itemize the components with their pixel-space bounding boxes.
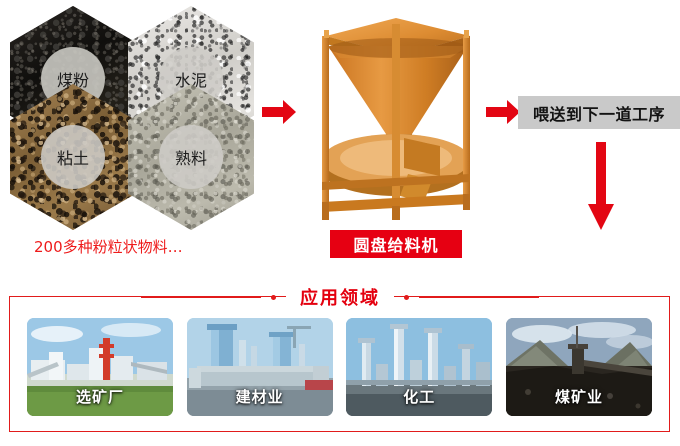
red-right-arrow-icon	[486, 100, 520, 124]
application-card-label: 化工	[346, 386, 492, 407]
application-card-coal-mining[interactable]: 煤矿业	[506, 318, 652, 416]
material-label-badge: 粘土	[41, 125, 105, 189]
material-label-badge: 熟料	[159, 125, 223, 189]
materials-caption: 200多种粉粒状物料…	[34, 236, 183, 257]
machine-name-banner: 圆盘给料机	[330, 230, 462, 258]
title-dot-right	[404, 295, 409, 300]
application-title: 应用领域	[286, 284, 394, 310]
application-card-label: 煤矿业	[506, 386, 652, 407]
next-process-box: 喂送到下一道工序	[518, 96, 680, 129]
title-dot-left	[271, 295, 276, 300]
red-right-arrow-icon	[262, 100, 296, 124]
title-rule-right	[419, 296, 539, 298]
application-cards: 选矿厂	[9, 318, 670, 430]
red-down-arrow-icon	[588, 142, 614, 230]
application-card-label: 建材业	[187, 386, 333, 407]
materials-hex-cluster: 煤粉 水泥 粘土 熟料	[8, 4, 258, 226]
title-rule-left	[141, 296, 261, 298]
disc-feeder-illustration	[300, 6, 486, 224]
infographic-canvas: 煤粉 水泥 粘土 熟料 200多种粉粒状物料…	[0, 0, 680, 446]
application-card-label: 选矿厂	[27, 386, 173, 407]
application-card-ore-dressing[interactable]: 选矿厂	[27, 318, 173, 416]
application-card-chemical[interactable]: 化工	[346, 318, 492, 416]
application-title-bar: 应用领域	[0, 283, 680, 311]
application-card-building-materials[interactable]: 建材业	[187, 318, 333, 416]
disc-feeder-machine-image	[300, 6, 486, 224]
